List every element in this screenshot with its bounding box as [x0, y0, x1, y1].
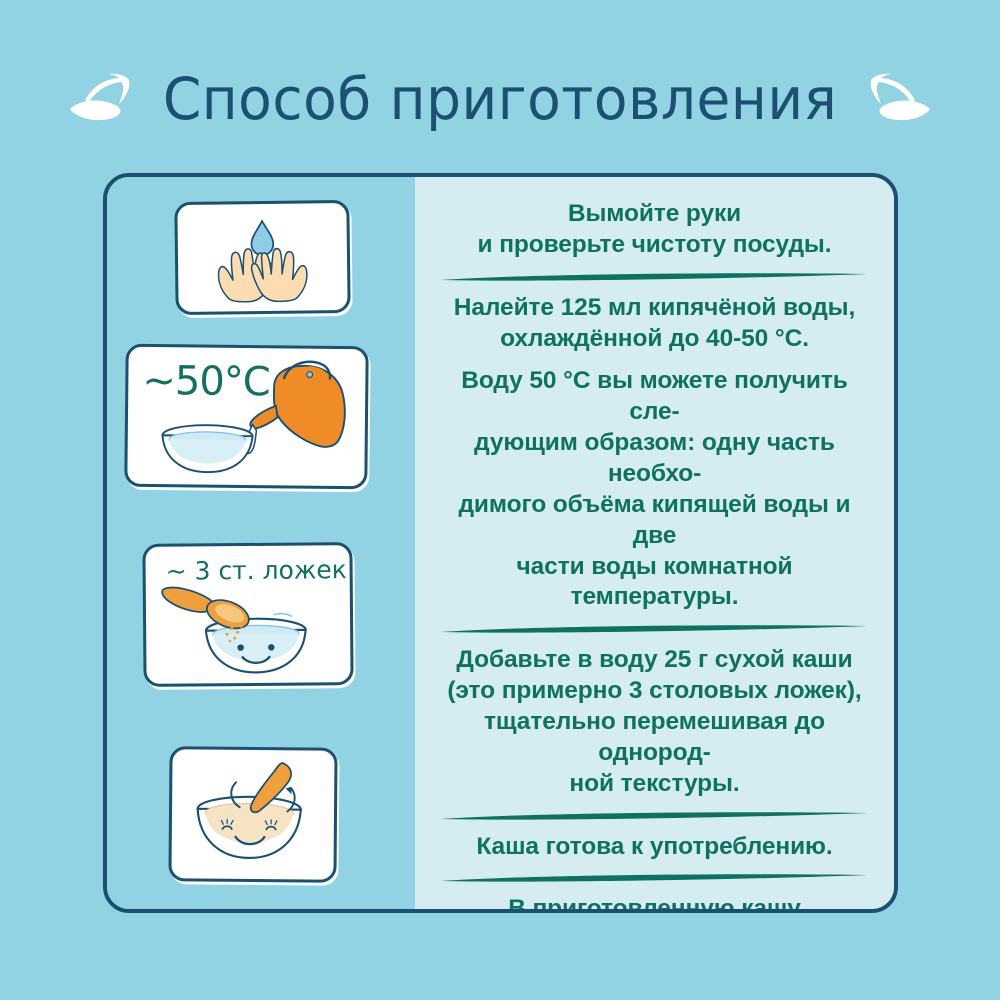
instruction-line: и проверьте чистоту посуды. [439, 230, 870, 261]
panel-caption-temperature: ~50°C [142, 361, 270, 402]
washing-hands-icon [218, 221, 307, 303]
leaf-swirl-icon-right [863, 70, 933, 128]
section-divider [439, 872, 870, 886]
instruction-line: ной текстуры. [439, 769, 870, 800]
illustration-panel-pour-water: ~50°C [124, 344, 368, 490]
section-divider [439, 271, 870, 285]
instruction-line: Вымойте руки [439, 199, 870, 230]
illustration-panel-stir-porridge [168, 746, 337, 882]
instructions-column: Вымойте рукии проверьте чистоту посуды. … [415, 177, 894, 909]
section-divider [439, 623, 870, 637]
section-divider [439, 810, 870, 824]
instruction-line: димого объёма кипящей воды и две [439, 490, 870, 552]
page-header: Способ приготовления [0, 56, 1000, 142]
spoon-pouring-bowl-icon [162, 586, 306, 673]
instruction-line: Добавьте в воду 25 г сухой каши [439, 645, 870, 676]
instruction-line: В приготовленную кашу допускается [439, 894, 870, 913]
instruction-step-step-add-cereal: Добавьте в воду 25 г сухой каши(это прим… [439, 645, 870, 799]
instruction-step-step-water-ratio: Воду 50 °C вы можете получить сле-дующим… [439, 366, 870, 613]
instruction-step-step-wash-hands: Вымойте рукии проверьте чистоту посуды. [439, 199, 870, 261]
leaf-swirl-icon-left [67, 70, 137, 128]
instruction-line: охлаждённой до 40-50 °C. [439, 324, 870, 355]
instruction-step-step-ready: Каша готова к употреблению. [439, 832, 870, 863]
instruction-line: дующим образом: одну часть необхо- [439, 428, 870, 490]
instruction-line: тщательно перемешивая до однород- [439, 707, 870, 769]
instruction-line: Налейте 125 мл кипячёной воды, [439, 293, 870, 324]
illustration-panel-wash-hands [174, 200, 350, 315]
instruction-line: (это примерно 3 столовых ложек), [439, 676, 870, 707]
instruction-line: Каша готова к употреблению. [439, 832, 870, 863]
instruction-line: части воды комнатной температуры. [439, 552, 870, 614]
instructions-card: ~50°C [103, 173, 898, 913]
instruction-line: Воду 50 °C вы можете получить сле- [439, 366, 870, 428]
page-title: Способ приготовления [163, 70, 837, 128]
illustrations-column: ~50°C [107, 177, 415, 909]
illustration-panel-add-cereal: ~ 3 ст. ложек [142, 542, 353, 687]
instruction-step-step-pour-water: Налейте 125 мл кипячёной воды,охлаждённо… [439, 293, 870, 355]
steps-list: Вымойте рукии проверьте чистоту посуды. … [439, 199, 870, 913]
panel-caption-spoons: ~ 3 ст. ложек [166, 557, 347, 584]
instruction-step-step-add-butter: В приготовленную кашу допускаетсядобавля… [439, 894, 870, 913]
bowl-stirring-spoon-icon [197, 762, 301, 858]
